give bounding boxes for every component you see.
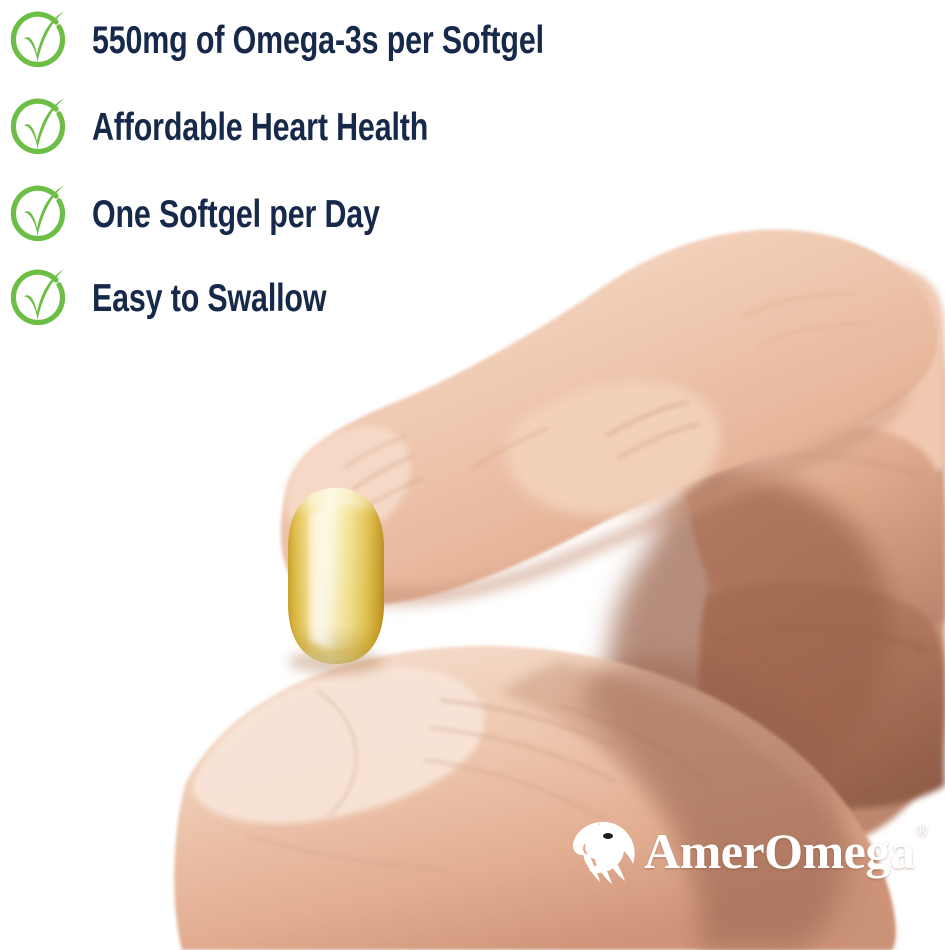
feature-label: Affordable Heart Health — [92, 108, 428, 147]
product-feature-image: 550mg of Omega-3s per Softgel Affordable… — [0, 0, 945, 950]
eagle-head-icon — [566, 816, 640, 886]
feature-label: One Softgel per Day — [92, 195, 380, 234]
check-circle-icon — [8, 9, 70, 71]
omega-3-softgel-capsule — [288, 488, 384, 674]
feature-item-3: Easy to Swallow — [0, 266, 392, 330]
feature-label: 550mg of Omega-3s per Softgel — [92, 21, 544, 60]
registered-trademark-symbol: ® — [915, 821, 928, 840]
check-circle-icon — [8, 96, 70, 158]
feature-item-2: One Softgel per Day — [0, 182, 461, 246]
feature-label: Easy to Swallow — [92, 279, 326, 318]
brand-wordmark: AmerOmega® — [644, 826, 927, 876]
feature-item-1: Affordable Heart Health — [0, 95, 523, 159]
brand-wordmark-text: AmerOmega — [644, 823, 914, 879]
feature-item-0: 550mg of Omega-3s per Softgel — [0, 8, 671, 72]
check-circle-icon — [8, 267, 70, 329]
check-circle-icon — [8, 183, 70, 245]
brand-logo: AmerOmega® — [566, 812, 896, 890]
